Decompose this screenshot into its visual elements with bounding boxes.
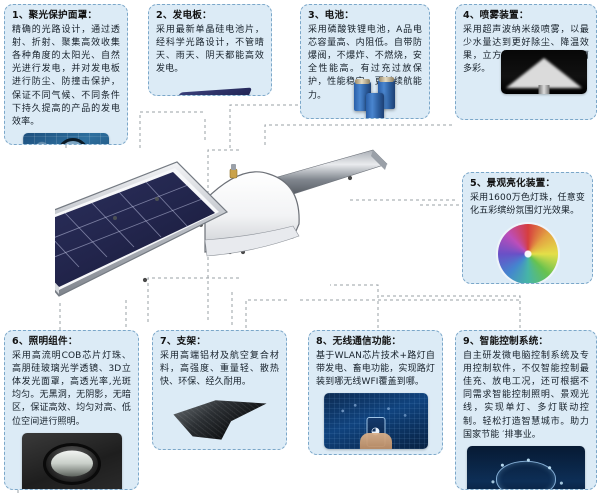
solar-street-light-illustration — [55, 140, 395, 325]
callout-card-7[interactable]: 7、支架： 采用高端铝材及航空复合材料，高强度、重量轻、散热快、环保、经久耐用。 — [152, 330, 287, 450]
callout-title-8: 8、无线通信功能： — [316, 336, 435, 348]
battery-cells-image — [338, 73, 420, 119]
bracket-shape — [172, 399, 268, 441]
smart-city-brain-image — [467, 446, 585, 490]
callout-title-3: 3、电池： — [308, 10, 422, 22]
cob-lens-image — [22, 433, 122, 490]
callout-body-1: 精确的光路设计，通过透射、折射、聚集高效收集各种角度的太阳光、自然光进行发电，并… — [12, 24, 120, 129]
bracket-image — [168, 393, 272, 448]
color-wheel-image — [496, 222, 560, 284]
hand-shape — [360, 433, 392, 449]
callout-body-8: 基于WLAN芯片技术+路灯自带发电、畜电功能，实现路灯装到哪无线WFI覆盖到哪。 — [316, 350, 435, 389]
nozzle-base-shape — [539, 85, 550, 94]
callout-card-6[interactable]: 6、照明组件： 采用高流明COB芯片灯珠、高朋硅玻璃光学透镜、3D立体发光面罩，… — [4, 330, 139, 490]
callout-body-5: 采用1600万色灯珠，任意变化五彩缤纷氛围灯光效果。 — [470, 192, 585, 218]
battery-cell-3 — [366, 93, 384, 119]
wire-callout-9 — [380, 296, 520, 328]
callout-card-3[interactable]: 3、电池： 采用磷酸铁锂电池，A品电芯容量高、内阻低。自带防爆阀，不爆炸、不燃烧… — [300, 4, 430, 119]
callout-title-2: 2、发电板： — [156, 10, 264, 22]
solar-cell-image — [160, 80, 260, 96]
mist-spray-image — [501, 50, 587, 94]
lens-dome-shape — [51, 450, 93, 476]
callout-card-1[interactable]: 1、聚光保护面罩： 精确的光路设计，通过透射、折射、聚集高效收集各种角度的太阳光… — [4, 4, 128, 145]
solar-cell-body — [166, 88, 252, 96]
callout-title-9: 9、智能控制系统： — [463, 336, 589, 348]
color-wheel-gradient — [498, 224, 558, 284]
wifi-coverage-image: ◕ — [324, 393, 428, 449]
battery-cap-1 — [355, 79, 370, 84]
spray-nozzle — [230, 164, 237, 178]
callout-card-5[interactable]: 5、景观亮化装置： 采用1600万色灯珠，任意变化五彩缤纷氛围灯光效果。 — [462, 172, 593, 284]
callout-title-5: 5、景观亮化装置： — [470, 178, 585, 190]
callout-title-4: 4、喷雾装置： — [463, 10, 589, 22]
callout-card-2[interactable]: 2、发电板： 采用最新单晶硅电池片，经科学光路设计，不管晴天、雨天、阴天都能高效… — [148, 4, 272, 96]
callout-card-9[interactable]: 9、智能控制系统： 自主研发微电脑控制系统及专用控制软件，不仅智能控制最佳充、放… — [455, 330, 597, 490]
diagram-canvas: 1、聚光保护面罩： 精确的光路设计，通过透射、折射、聚集高效收集各种角度的太阳光… — [0, 0, 600, 493]
callout-body-6: 采用高流明COB芯片灯珠、高朋硅玻璃光学透镜、3D立体发光面罩，高透光率,光斑均… — [12, 350, 131, 429]
carbon-texture — [172, 399, 268, 441]
neural-nodes-overlay — [467, 446, 585, 490]
callout-title-1: 1、聚光保护面罩： — [12, 10, 120, 22]
callout-title-7: 7、支架： — [160, 336, 279, 348]
callout-body-7: 采用高端铝材及航空复合材料，高强度、重量轻、散热快、环保、经久耐用。 — [160, 350, 279, 389]
magnifier-image — [23, 133, 109, 145]
callout-body-9: 自主研发微电脑控制系统及专用控制软件，不仅智能控制最佳充、放电工况，还可根据不同… — [463, 350, 589, 442]
light-beam-shape — [506, 58, 582, 88]
callout-title-6: 6、照明组件： — [12, 336, 131, 348]
callout-card-8[interactable]: 8、无线通信功能： 基于WLAN芯片技术+路灯自带发电、畜电功能，实现路灯装到哪… — [308, 330, 443, 455]
callout-card-4[interactable]: 4、喷雾装置： 采用超声波纳米级喷雾，以最少水量达到更好除尘、降温效果，立方体景… — [455, 4, 597, 120]
battery-cap-2 — [379, 77, 394, 82]
callout-body-2: 采用最新单晶硅电池片，经科学光路设计，不管晴天、雨天、阴天都能高效发电。 — [156, 24, 264, 77]
